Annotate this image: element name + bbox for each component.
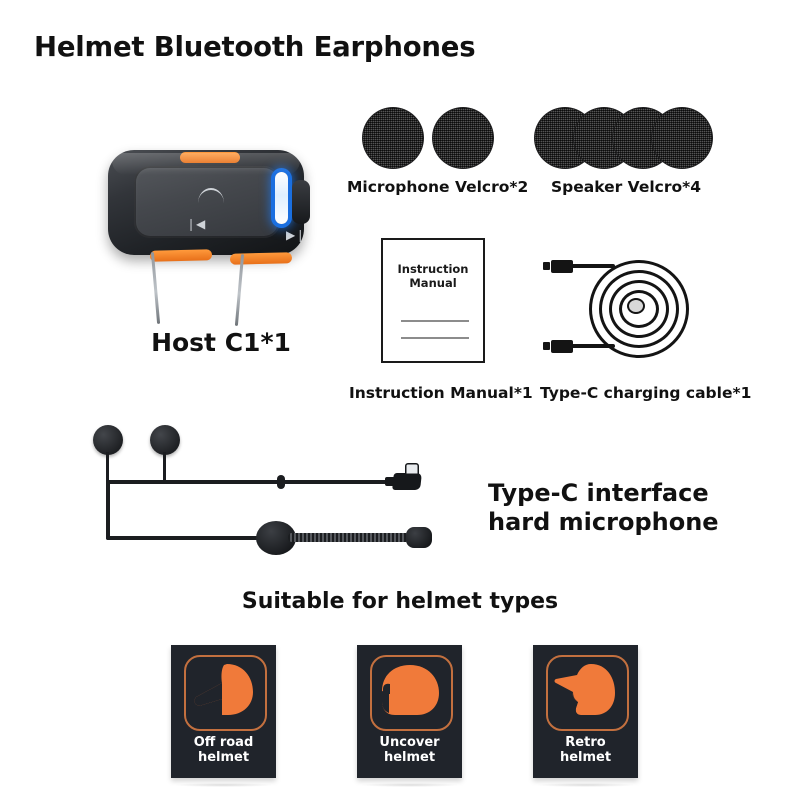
card-shadow bbox=[538, 783, 633, 787]
speaker-wire bbox=[163, 452, 166, 482]
connector-tip bbox=[543, 262, 550, 270]
microphone-boom-arm bbox=[288, 533, 410, 542]
manual-rule bbox=[401, 337, 469, 339]
host-device-face: ❘◀ ▶❘ bbox=[134, 166, 280, 238]
helmet-card-uncover[interactable]: Uncover helmet bbox=[357, 645, 462, 778]
next-track-icon: ▶❘ bbox=[286, 229, 305, 241]
accent-strip-bottom-left bbox=[150, 249, 212, 262]
connector-body bbox=[392, 473, 422, 490]
retro-helmet-icon bbox=[553, 661, 619, 721]
host-side-cap bbox=[292, 180, 310, 224]
speaker-velcro-illustration bbox=[534, 105, 714, 171]
card-shadow bbox=[176, 783, 271, 787]
microphone-cable bbox=[106, 536, 276, 540]
card-shadow bbox=[362, 783, 457, 787]
host-label: Host C1*1 bbox=[126, 328, 316, 357]
speaker-wire bbox=[106, 452, 109, 482]
cable-bead bbox=[277, 475, 285, 489]
instruction-manual-illustration: Instruction Manual bbox=[381, 238, 485, 363]
hard-microphone-label-line2: hard microphone bbox=[488, 508, 719, 537]
host-device-illustration: ❘◀ ▶❘ Host C1*1 bbox=[96, 142, 326, 352]
uncover-helmet-icon bbox=[377, 661, 443, 721]
host-clip-leg-right bbox=[235, 254, 244, 326]
off-road-helmet-icon bbox=[191, 661, 257, 721]
accent-strip-bottom-right bbox=[230, 252, 292, 265]
connector-tip bbox=[543, 342, 550, 350]
helmet-section-heading: Suitable for helmet types bbox=[0, 589, 800, 614]
cable-branch bbox=[106, 480, 110, 540]
helmet-card-off-road[interactable]: Off road helmet bbox=[171, 645, 276, 778]
velcro-pad bbox=[362, 107, 424, 169]
charging-cable-label: Type-C charging cable*1 bbox=[540, 384, 751, 402]
helmet-card-label: Retro helmet bbox=[533, 735, 638, 766]
helmet-card-label: Off road helmet bbox=[171, 735, 276, 766]
instruction-manual-label: Instruction Manual*1 bbox=[349, 384, 533, 402]
type-c-connector-icon bbox=[391, 463, 421, 493]
velcro-pad bbox=[651, 107, 713, 169]
hard-microphone-label: Type-C interface hard microphone bbox=[488, 479, 719, 538]
manual-rule bbox=[401, 320, 469, 322]
microphone-head bbox=[406, 527, 432, 548]
page-title: Helmet Bluetooth Earphones bbox=[34, 31, 475, 63]
cable-coil-core bbox=[627, 298, 645, 314]
speaker-velcro-label: Speaker Velcro*4 bbox=[551, 178, 701, 196]
previous-track-icon: ❘◀ bbox=[186, 218, 205, 230]
connector-tip bbox=[405, 463, 419, 475]
velcro-pad bbox=[432, 107, 494, 169]
led-indicator-icon bbox=[275, 172, 288, 224]
helmet-card-retro[interactable]: Retro helmet bbox=[533, 645, 638, 778]
speaker-driver bbox=[150, 425, 180, 455]
hard-microphone-illustration bbox=[88, 425, 468, 555]
hard-microphone-label-line1: Type-C interface bbox=[488, 479, 719, 508]
speaker-driver bbox=[93, 425, 123, 455]
accent-strip-top bbox=[180, 152, 240, 163]
call-arc-icon bbox=[198, 188, 224, 203]
helmet-card-label: Uncover helmet bbox=[357, 735, 462, 766]
microphone-velcro-illustration bbox=[362, 105, 502, 171]
host-clip-leg-left bbox=[151, 252, 160, 324]
charging-cable-illustration bbox=[545, 252, 705, 362]
usb-connector-icon bbox=[551, 260, 573, 273]
manual-cover: Instruction Manual bbox=[381, 238, 485, 363]
microphone-velcro-label: Microphone Velcro*2 bbox=[347, 178, 528, 196]
main-cable bbox=[106, 480, 396, 484]
helmet-card-list: Off road helmet Uncover helmet Retro hel… bbox=[0, 645, 800, 785]
type-c-connector-icon bbox=[551, 340, 573, 353]
host-device-body: ❘◀ ▶❘ bbox=[108, 150, 304, 255]
manual-cover-title: Instruction Manual bbox=[383, 262, 483, 290]
